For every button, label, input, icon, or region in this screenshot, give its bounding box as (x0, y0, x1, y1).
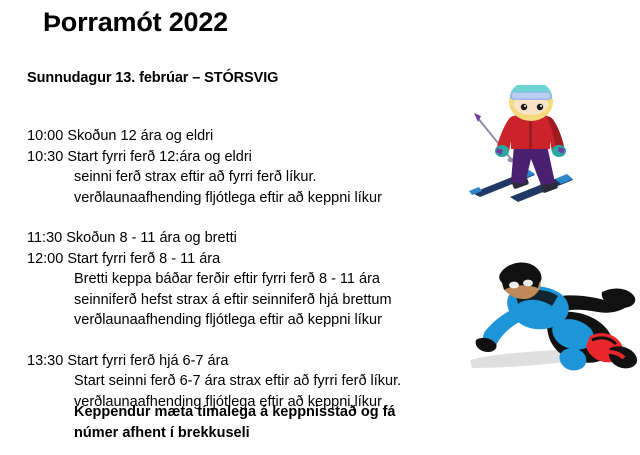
schedule-time-line: 13:30 Start fyrri ferð hjá 6-7 ára (27, 351, 447, 372)
schedule-time-line: 10:00 Skoðun 12 ára og eldri (27, 126, 447, 147)
schedule-list: 10:00 Skoðun 12 ára og eldri10:30 Start … (27, 126, 447, 412)
schedule-detail-line: seinniferð hefst strax á eftir seinnifer… (27, 290, 447, 311)
boots-icon (586, 333, 637, 368)
schedule-detail-line: verðlaunaafhending fljótlega eftir að ke… (27, 188, 447, 209)
attendance-note-line: númer afhent í brekkuseli (74, 423, 494, 444)
schedule-time-line: 12:00 Start fyrri ferð 8 - 11 ára (27, 249, 447, 270)
attendance-note: Keppendur mæta tímalega á keppnisstað og… (74, 402, 494, 443)
event-subtitle: Sunnudagur 13. febrúar – STÓRSVIG (27, 70, 278, 86)
schedule-time-line: 10:30 Start fyrri ferð 12:ára og eldri (27, 147, 447, 168)
head-icon (499, 262, 541, 299)
schedule-detail-line: verðlaunaafhending fljótlega eftir að ke… (27, 310, 447, 331)
schedule-time-line: 11:30 Skoðun 8 - 11 ára og bretti (27, 228, 447, 249)
schedule-detail-line: Start seinni ferð 6-7 ára strax eftir að… (27, 371, 447, 392)
attendance-note-line: Keppendur mæta tímalega á keppnisstað og… (74, 402, 494, 423)
schedule-detail-line: Bretti keppa báðar ferðir eftir fyrri fe… (27, 269, 447, 290)
slide-canvas: Þorramót 2022 Sunnudagur 13. febrúar – S… (0, 0, 640, 455)
snowboarder-illustration (452, 252, 640, 387)
schedule-detail-line: seinni ferð strax eftir að fyrri ferð lí… (27, 167, 447, 188)
schedule-block: 11:30 Skoðun 8 - 11 ára og bretti12:00 S… (27, 228, 447, 331)
page-title: Þorramót 2022 (43, 6, 228, 38)
schedule-block: 10:00 Skoðun 12 ára og eldri10:30 Start … (27, 126, 447, 208)
skier-illustration (455, 85, 640, 210)
pants-icon (511, 145, 555, 185)
